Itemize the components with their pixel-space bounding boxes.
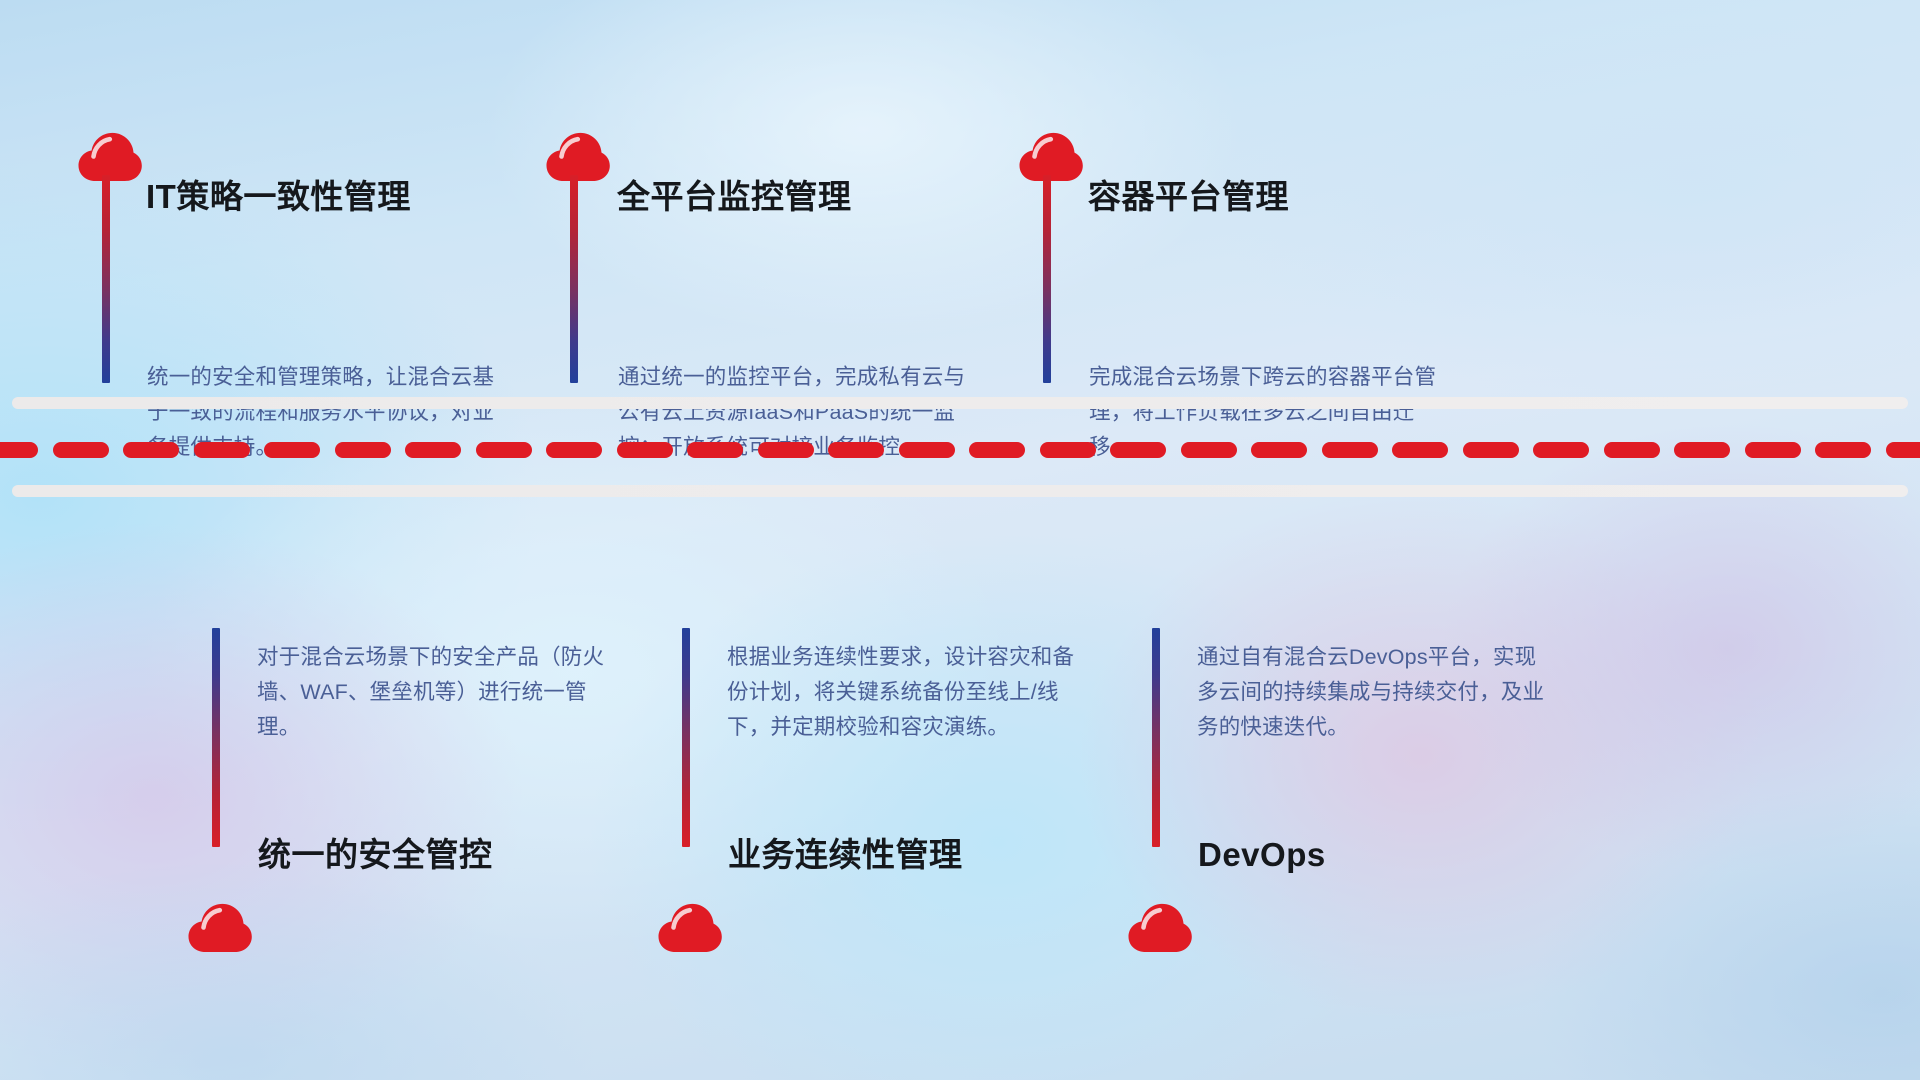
divider-rail-top xyxy=(12,397,1908,409)
cloud-icon xyxy=(1127,903,1193,953)
divider-dash xyxy=(899,442,955,458)
divider-dash xyxy=(687,442,743,458)
divider-dash xyxy=(0,442,38,458)
divider-dash xyxy=(123,442,179,458)
column-description: 根据业务连续性要求，设计容灾和备份计划，将关键系统备份至线上/线下，并定期校验和… xyxy=(727,640,1077,744)
divider-dash xyxy=(1815,442,1871,458)
divider-dash xyxy=(617,442,673,458)
connector-bar xyxy=(682,628,690,847)
divider-dashed-line xyxy=(0,442,1920,458)
connector-bar xyxy=(102,175,110,383)
column-title: 统一的安全管控 xyxy=(258,838,493,871)
column-title: 业务连续性管理 xyxy=(728,838,963,871)
divider-dash xyxy=(194,442,250,458)
cloud-icon xyxy=(657,903,723,953)
divider-dash xyxy=(1181,442,1237,458)
divider-dash xyxy=(1604,442,1660,458)
divider-dash xyxy=(1251,442,1307,458)
column-title: DevOps xyxy=(1198,838,1326,871)
divider-dash xyxy=(1463,442,1519,458)
divider-dash xyxy=(335,442,391,458)
column-description: 对于混合云场景下的安全产品（防火墙、WAF、堡垒机等）进行统一管理。 xyxy=(257,640,607,744)
divider-dash xyxy=(1745,442,1801,458)
divider-dash xyxy=(53,442,109,458)
connector-bar xyxy=(570,175,578,383)
column-description: 通过自有混合云DevOps平台，实现多云间的持续集成与持续交付，及业务的快速迭代… xyxy=(1197,640,1547,744)
divider-dash xyxy=(405,442,461,458)
divider-dash xyxy=(1392,442,1448,458)
cloud-icon xyxy=(77,132,143,182)
column-title: IT策略一致性管理 xyxy=(146,180,411,213)
connector-bar xyxy=(1152,628,1160,847)
divider-dash xyxy=(1886,442,1920,458)
cloud-icon xyxy=(187,903,253,953)
divider-dash xyxy=(758,442,814,458)
divider-dash xyxy=(1110,442,1166,458)
column-title: 容器平台管理 xyxy=(1088,180,1289,213)
divider-dash xyxy=(969,442,1025,458)
connector-bar xyxy=(1043,175,1051,383)
cloud-icon xyxy=(1018,132,1084,182)
column-title: 全平台监控管理 xyxy=(617,180,852,213)
divider-rail-bottom xyxy=(12,485,1908,497)
divider-dash xyxy=(1322,442,1378,458)
divider-dash xyxy=(476,442,532,458)
cloud-icon xyxy=(545,132,611,182)
divider-dash xyxy=(1674,442,1730,458)
divider-dash xyxy=(1040,442,1096,458)
connector-bar xyxy=(212,628,220,847)
divider-dash xyxy=(264,442,320,458)
divider-dash xyxy=(1533,442,1589,458)
divider-dash xyxy=(546,442,602,458)
divider-dash xyxy=(828,442,884,458)
